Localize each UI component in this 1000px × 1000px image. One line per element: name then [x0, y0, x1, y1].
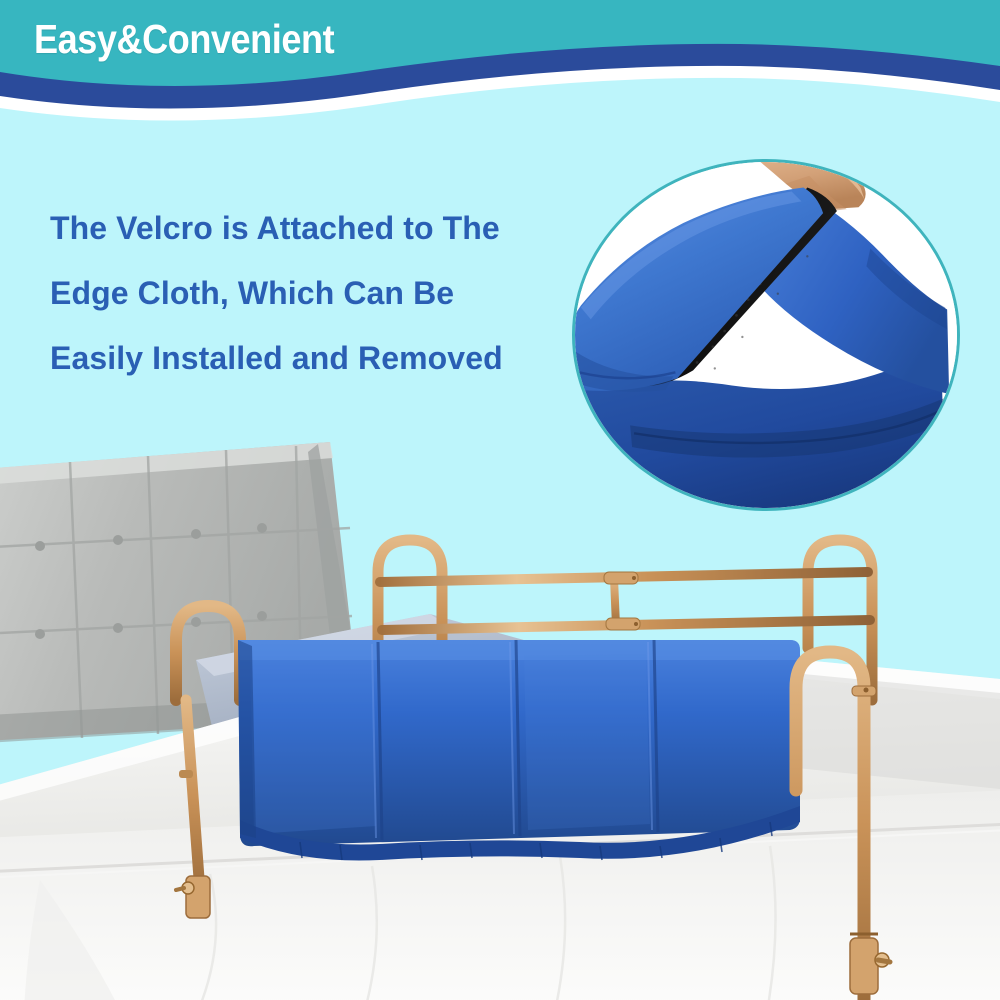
velcro-closeup-photo: [572, 159, 960, 511]
product-photo: [0, 0, 1000, 1000]
body-copy-line-1: The Velcro is Attached to The: [50, 196, 570, 261]
body-copy-line-2: Edge Cloth, Which Can Be: [50, 261, 570, 326]
product-marketing-poster: The Velcro is Attached to The Edge Cloth…: [0, 0, 1000, 1000]
body-copy-line-3: Easily Installed and Removed: [50, 326, 570, 391]
blue-rail-pad: [238, 640, 800, 861]
body-copy: The Velcro is Attached to The Edge Cloth…: [50, 196, 570, 391]
page-title: Easy&Convenient: [34, 16, 334, 63]
